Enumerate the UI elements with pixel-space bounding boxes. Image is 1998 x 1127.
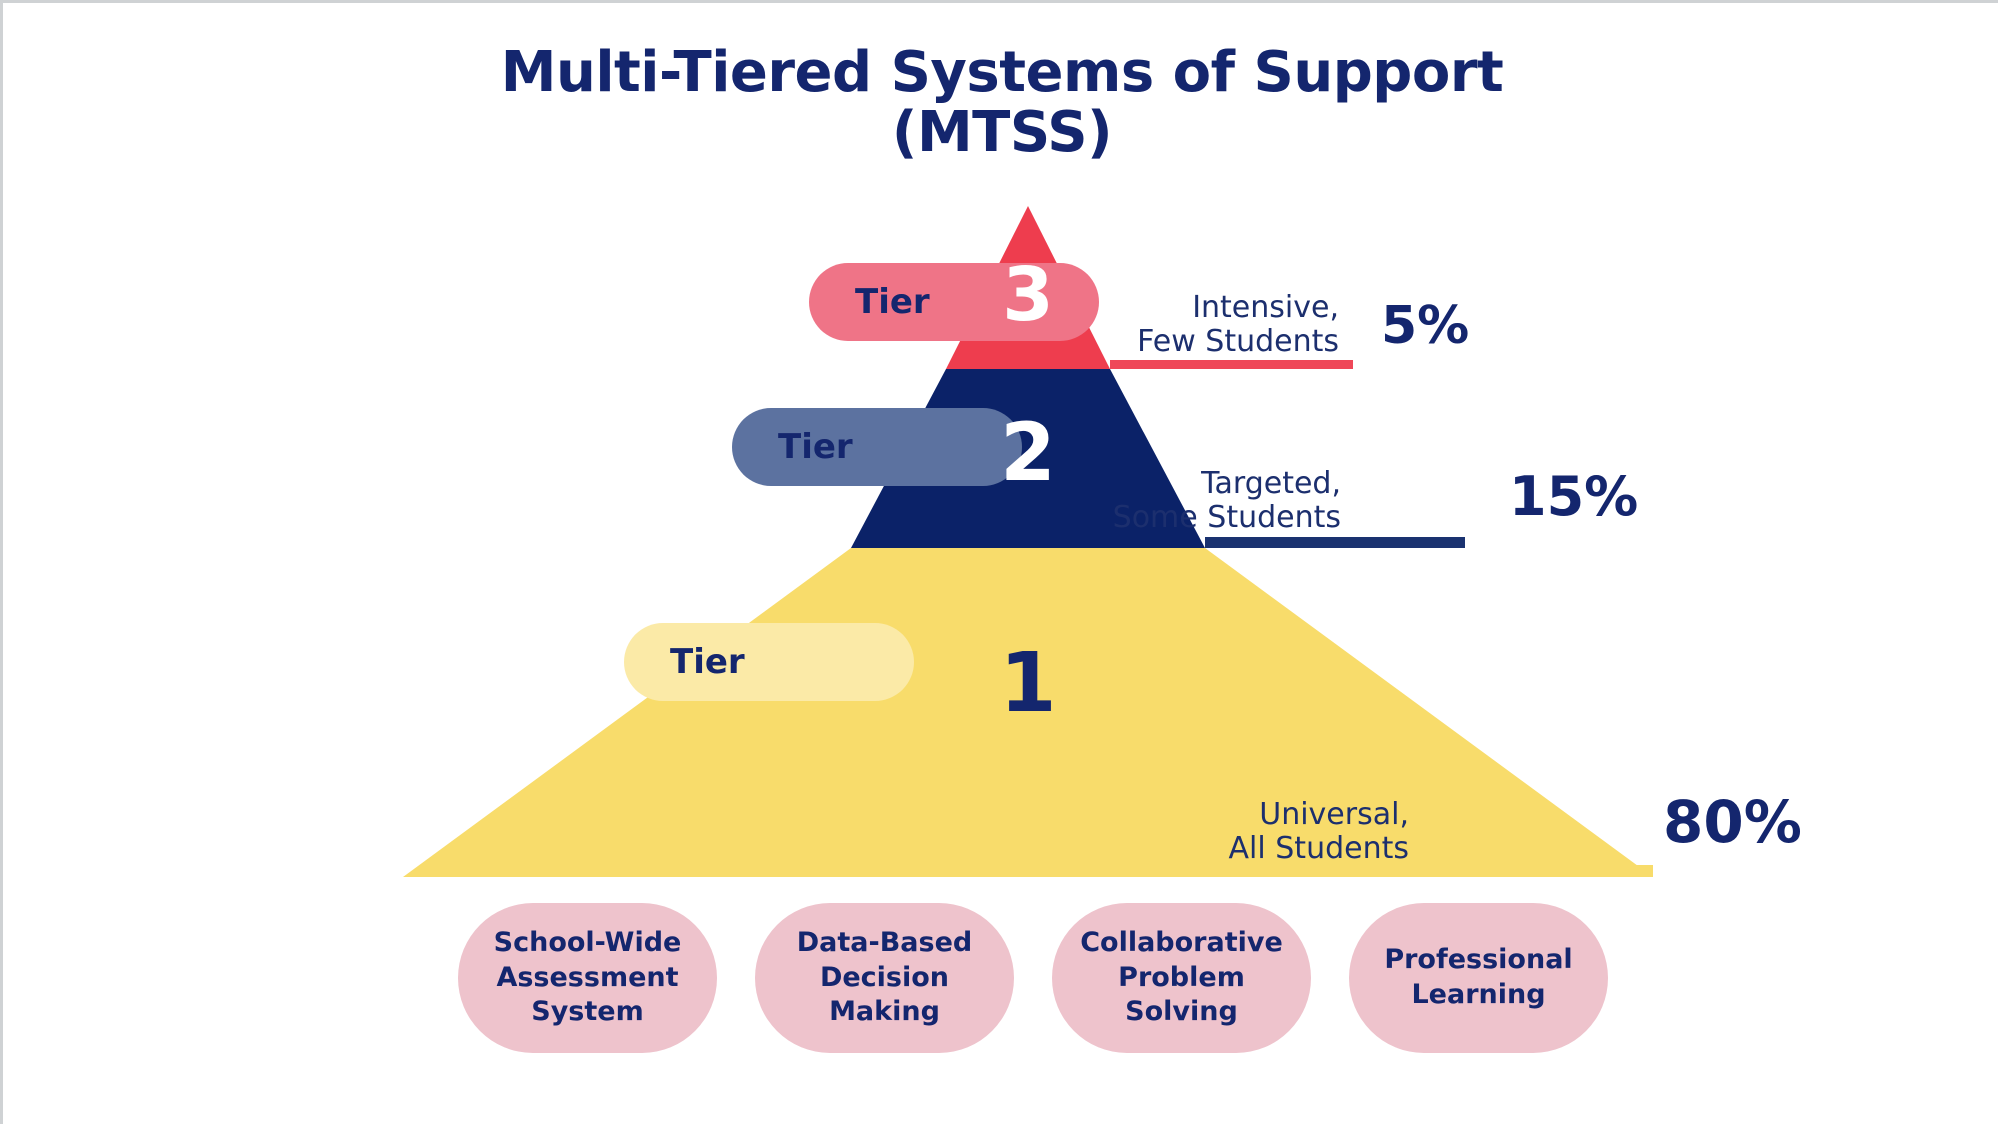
tier-2-description-line-1: Targeted, [911,467,1341,501]
component-pill-data-based-decision-making[interactable]: Data-Based Decision Making [755,903,1014,1053]
tier-1-pill-label: Tier [670,642,745,682]
component-pill-professional-learning[interactable]: Professional Learning [1349,903,1608,1053]
tier-1-description-line-2: All Students [1003,832,1409,866]
page-title-line-2: (MTSS) [3,103,1998,163]
tier-1-percent: 80% [1663,793,1802,851]
tier-1-rule [1407,865,1653,877]
tier-2-description: Targeted, Some Students [911,467,1341,534]
tier-2-percent: 15% [1509,470,1638,524]
tier-2-pill-label: Tier [778,427,853,467]
tier-2-rule [1205,537,1465,548]
page-title-line-1: Multi-Tiered Systems of Support [3,43,1998,103]
tier-3-description: Intensive, Few Students [871,291,1339,358]
tier-1-description: Universal, All Students [1003,798,1409,865]
component-pill-collaborative-problem-solving[interactable]: Collaborative Problem Solving [1052,903,1311,1053]
tier-1-pill[interactable]: Tier [624,623,914,701]
tier-3-description-line-1: Intensive, [871,291,1339,325]
component-pill-row: School-Wide Assessment System Data-Based… [458,903,1608,1053]
tier-3-rule [1110,360,1353,369]
tier-1-description-line-1: Universal, [1003,798,1409,832]
tier-3-percent: 5% [1381,300,1469,352]
component-pill-school-wide-assessment-system[interactable]: School-Wide Assessment System [458,903,717,1053]
page-title: Multi-Tiered Systems of Support (MTSS) [3,43,1998,164]
tier-3-description-line-2: Few Students [871,325,1339,359]
tier-2-description-line-2: Some Students [911,501,1341,535]
tier-1-number: 1 [988,643,1068,725]
infographic-canvas: Multi-Tiered Systems of Support (MTSS) T… [0,0,1998,1124]
